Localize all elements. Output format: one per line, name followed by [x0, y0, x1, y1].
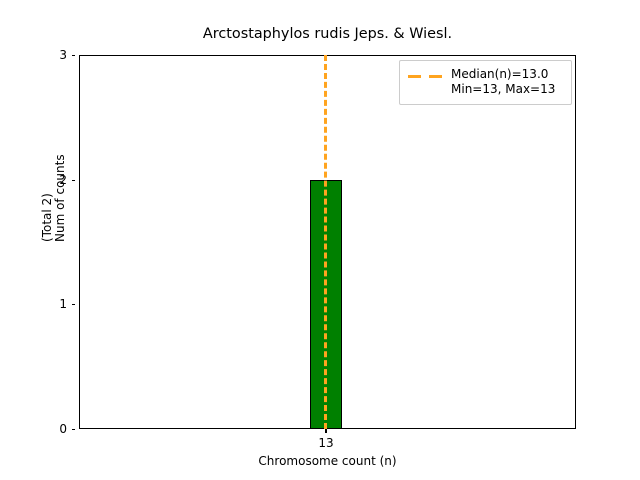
- y-axis-tick-mark: [72, 55, 76, 56]
- y-axis-tick-label-3: 3: [59, 47, 67, 63]
- legend-label-median: Median(n)=13.0: [451, 67, 555, 82]
- page-title: Arctostaphylos rudis Jeps. & Wiesl.: [79, 26, 576, 43]
- y-axis-tick-mark: [72, 180, 76, 181]
- y-axis-label: Num of counts: [53, 154, 67, 242]
- x-axis-tick-mark: [325, 429, 326, 433]
- legend-text-block: Median(n)=13.0 Min=13, Max=13: [451, 67, 555, 97]
- legend: Median(n)=13.0 Min=13, Max=13: [399, 60, 572, 105]
- dashed-line-icon: [408, 68, 442, 84]
- y-axis-tick-mark: [72, 304, 76, 305]
- y-axis-label-total: (Total 2): [40, 193, 54, 242]
- legend-item-median: Median(n)=13.0 Min=13, Max=13: [408, 67, 563, 97]
- y-axis-tick-label-0: 0: [59, 421, 67, 437]
- legend-label-minmax: Min=13, Max=13: [451, 82, 555, 97]
- y-axis-tick-label-1: 1: [59, 296, 67, 312]
- y-axis-tick-mark: [72, 429, 76, 430]
- x-axis-tick-label-13: 13: [286, 435, 366, 451]
- x-axis-label: Chromosome count (n): [79, 454, 576, 468]
- chart-figure: Arctostaphylos rudis Jeps. & Wiesl. 0 1 …: [0, 0, 640, 480]
- median-line: [324, 55, 327, 429]
